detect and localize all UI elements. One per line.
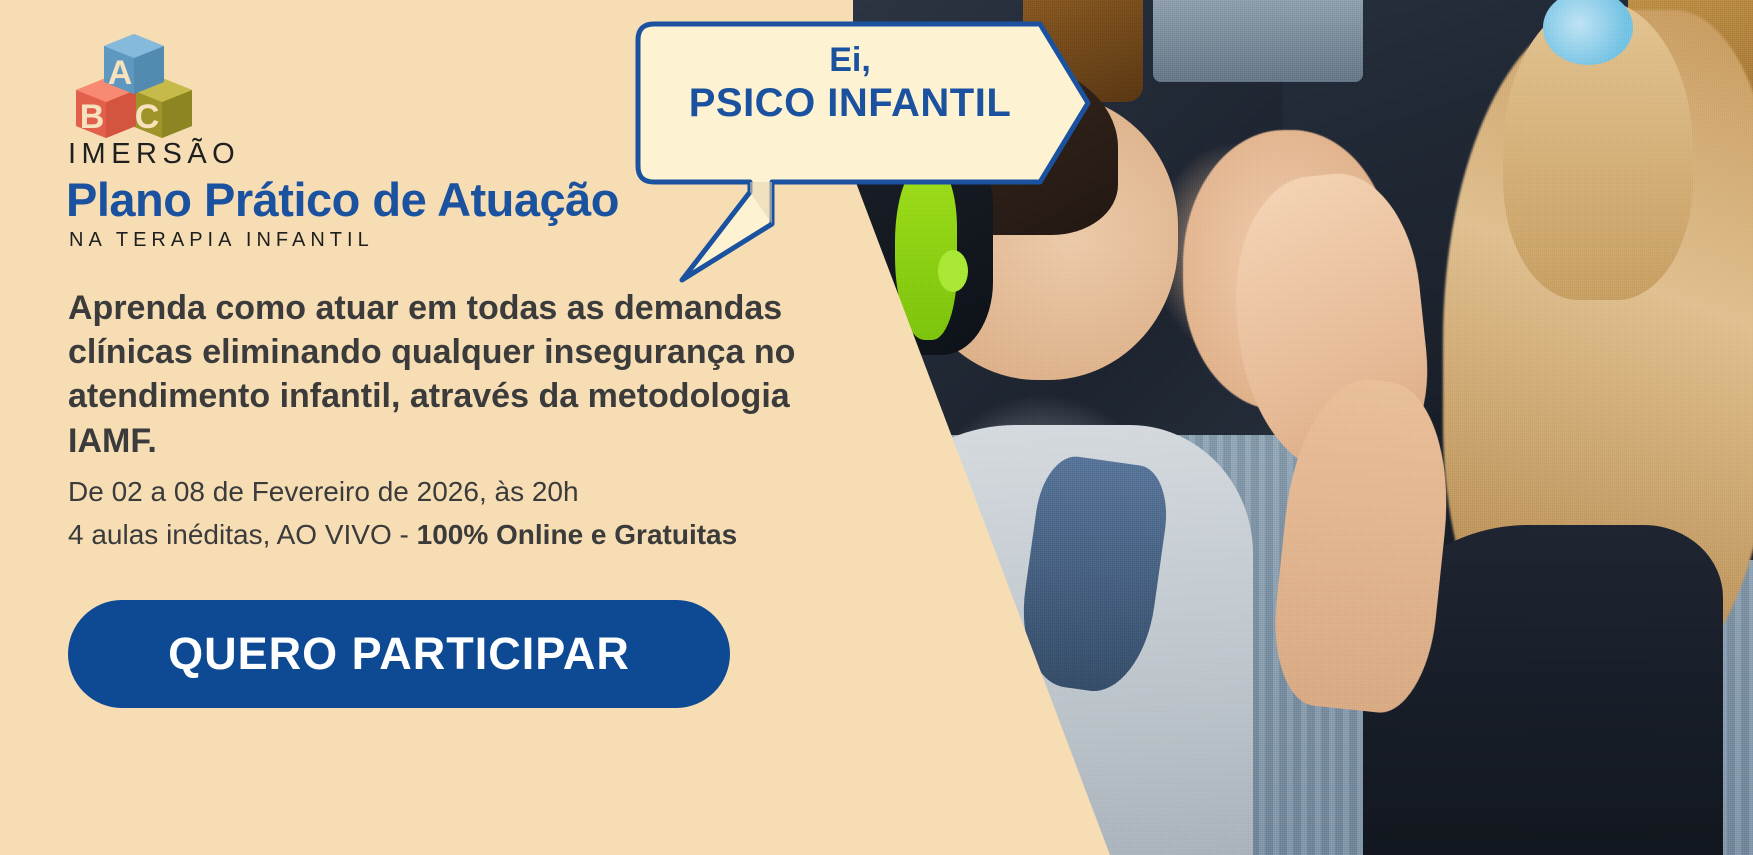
speech-bubble-text: Ei, PSICO INFANTIL (640, 40, 1060, 127)
abc-blocks-icon: C B A (74, 28, 194, 138)
event-format-prefix: 4 aulas inéditas, AO VIVO - (68, 519, 417, 550)
svg-text:B: B (80, 98, 105, 136)
eyebrow-imersao: IMERSÃO (68, 138, 240, 171)
banner-stage: C B A IMERSÃ (0, 0, 1753, 855)
quero-participar-button[interactable]: QUERO PARTICIPAR (68, 600, 730, 708)
content-column: C B A IMERSÃ (0, 0, 980, 855)
lede-paragraph: Aprenda como atuar em todas as demandas … (68, 286, 858, 463)
event-format-line: 4 aulas inéditas, AO VIVO - 100% Online … (68, 513, 948, 556)
page-subtitle: NA TERAPIA INFANTIL (69, 229, 374, 252)
speech-bubble-line-2: PSICO INFANTIL (640, 80, 1060, 127)
event-format-emphasis: 100% Online e Gratuitas (417, 519, 738, 550)
svg-text:A: A (108, 54, 133, 92)
svg-text:C: C (135, 98, 160, 136)
event-date-line: De 02 a 08 de Fevereiro de 2026, às 20h (68, 470, 948, 513)
page-title: Plano Prático de Atuação (66, 172, 619, 227)
speech-bubble-line-1: Ei, (640, 40, 1060, 80)
event-details: De 02 a 08 de Fevereiro de 2026, às 20h … (68, 470, 948, 557)
